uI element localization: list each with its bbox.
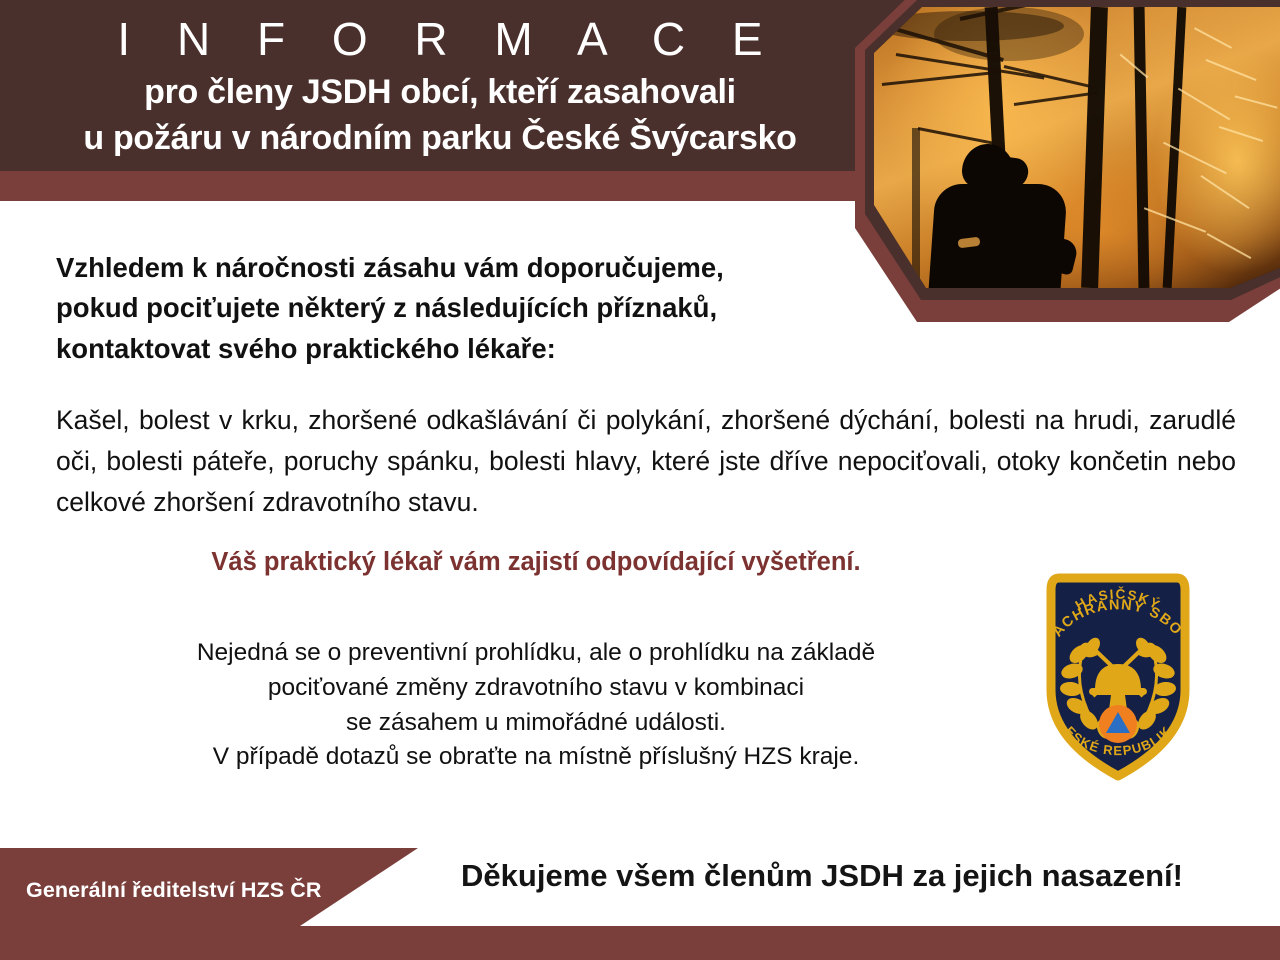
footer-organization-label: Generální ředitelství HZS ČR (26, 878, 386, 903)
tree-trunk (912, 128, 920, 288)
lead-paragraph: Vzhledem k náročnosti zásahu vám doporuč… (56, 248, 856, 369)
civil-protection-icon (1099, 705, 1137, 743)
note-line-3: se zásahem u mimořádné události. (56, 706, 1016, 741)
symptoms-paragraph: Kašel, bolest v krku, zhoršené odkašlává… (56, 400, 1236, 522)
note-line-2: pociťované změny zdravotního stavu v kom… (56, 671, 1016, 706)
photo-frame (855, 0, 1280, 322)
hzs-cr-shield-icon: HASIČSKÝ ZÁCHRANNÝ SBOR ČESKÉ REPUBLIKY (1043, 572, 1193, 782)
note-paragraph: Nejedná se o preventivní prohlídku, ale … (56, 636, 1016, 775)
photo-inner-border (865, 0, 1280, 300)
note-line-1: Nejedná se o preventivní prohlídku, ale … (56, 636, 1016, 671)
poster-root: I N F O R M A C E pro členy JSDH obcí, k… (0, 0, 1280, 960)
highlight-statement: Váš praktický lékař vám zajistí odpovída… (56, 546, 1016, 579)
lead-line-1: Vzhledem k náročnosti zásahu vám doporuč… (56, 248, 856, 288)
note-line-4: V případě dotazů se obraťte na místně př… (56, 740, 1016, 775)
firefighter-silhouette (932, 144, 1080, 288)
tree-branch (934, 7, 1084, 61)
lead-line-3: kontaktovat svého praktického lékaře: (56, 329, 856, 369)
footer-thanks-message: Děkujeme všem členům JSDH za jejich nasa… (412, 858, 1232, 894)
hzs-cr-emblem: HASIČSKÝ ZÁCHRANNÝ SBOR ČESKÉ REPUBLIKY (1043, 572, 1193, 782)
lead-line-2: pokud pociťujete některý z následujících… (56, 288, 856, 328)
firefighter-forest-fire-photo (874, 7, 1280, 288)
